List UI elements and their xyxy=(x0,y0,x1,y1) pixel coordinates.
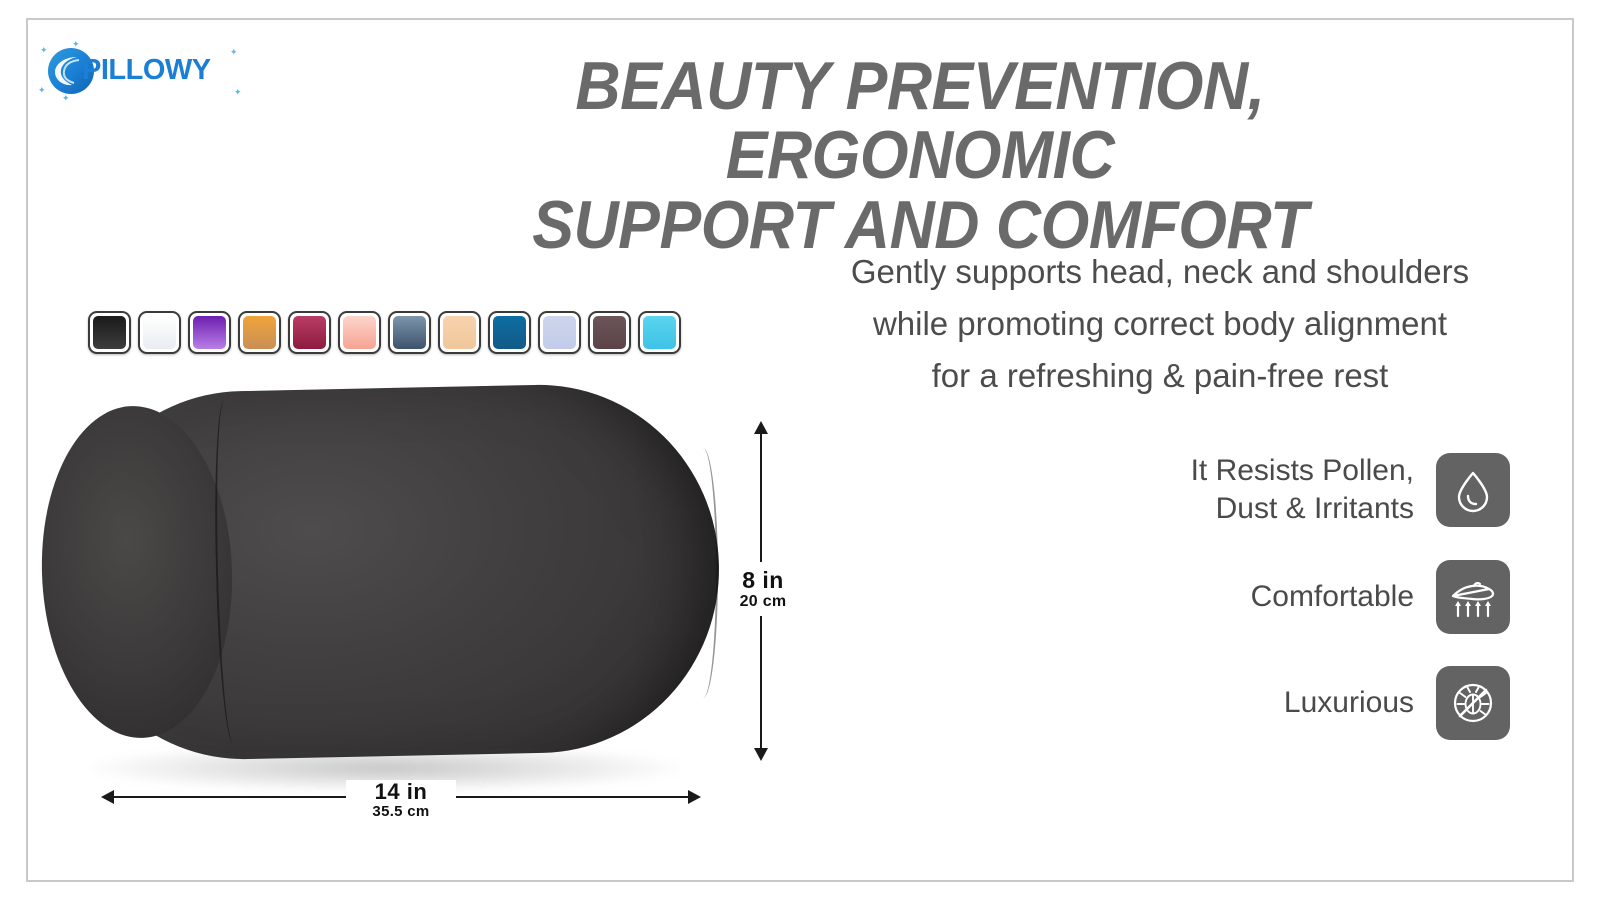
color-swatch-row xyxy=(88,311,681,354)
feature-label: Comfortable xyxy=(1251,578,1414,616)
color-swatch-burgundy-rose[interactable] xyxy=(288,311,331,354)
feature-item-luxurious: Luxurious xyxy=(1060,666,1510,740)
anti-dust-mite-icon xyxy=(1436,666,1510,740)
brand-logo: ✦ ✦ ✦ ✦ ✦ ✦ PILLOWY xyxy=(38,40,248,102)
sparkle-icon: ✦ xyxy=(230,48,238,57)
width-dimension-label: 14 in 35.5 cm xyxy=(346,780,456,821)
color-swatch-dark-mauve[interactable] xyxy=(588,311,631,354)
sparkle-icon: ✦ xyxy=(234,88,242,97)
color-swatch-black[interactable] xyxy=(88,311,131,354)
subheading-text: Gently supports head, neck and shoulders… xyxy=(810,246,1510,402)
color-swatch-teal-blue[interactable] xyxy=(488,311,531,354)
height-imperial: 8 in xyxy=(724,567,802,593)
feature-item-comfortable: Comfortable xyxy=(1060,560,1510,634)
color-swatch-periwinkle[interactable] xyxy=(538,311,581,354)
product-image-bolster-pillow xyxy=(40,378,740,798)
sparkle-icon: ✦ xyxy=(38,86,46,95)
feature-label: Luxurious xyxy=(1284,684,1414,722)
height-dimension-label: 8 in 20 cm xyxy=(724,562,802,616)
color-swatch-peach[interactable] xyxy=(438,311,481,354)
color-swatch-purple[interactable] xyxy=(188,311,231,354)
feature-item-resists-pollen: It Resists Pollen, Dust & Irritants xyxy=(1060,452,1510,528)
water-droplet-icon xyxy=(1436,453,1510,527)
width-imperial: 14 in xyxy=(352,780,450,804)
brand-name: PILLOWY xyxy=(82,54,211,87)
page-title: BEAUTY PREVENTION, ERGONOMIC SUPPORT AND… xyxy=(377,52,1463,260)
pillow-right-fold xyxy=(688,448,718,698)
height-metric: 20 cm xyxy=(724,593,802,611)
feature-label: It Resists Pollen, Dust & Irritants xyxy=(1191,452,1414,528)
product-infographic: ✦ ✦ ✦ ✦ ✦ ✦ PILLOWY BEAUTY PREVENTIO xyxy=(0,0,1600,900)
feature-list: It Resists Pollen, Dust & Irritants Comf… xyxy=(1060,452,1510,772)
color-swatch-steel-blue[interactable] xyxy=(388,311,431,354)
body-support-arrows-icon xyxy=(1436,560,1510,634)
color-swatch-sky-cyan[interactable] xyxy=(638,311,681,354)
color-swatch-mustard-orange[interactable] xyxy=(238,311,281,354)
color-swatch-blush-pink[interactable] xyxy=(338,311,381,354)
color-swatch-white[interactable] xyxy=(138,311,181,354)
width-metric: 35.5 cm xyxy=(352,804,450,821)
